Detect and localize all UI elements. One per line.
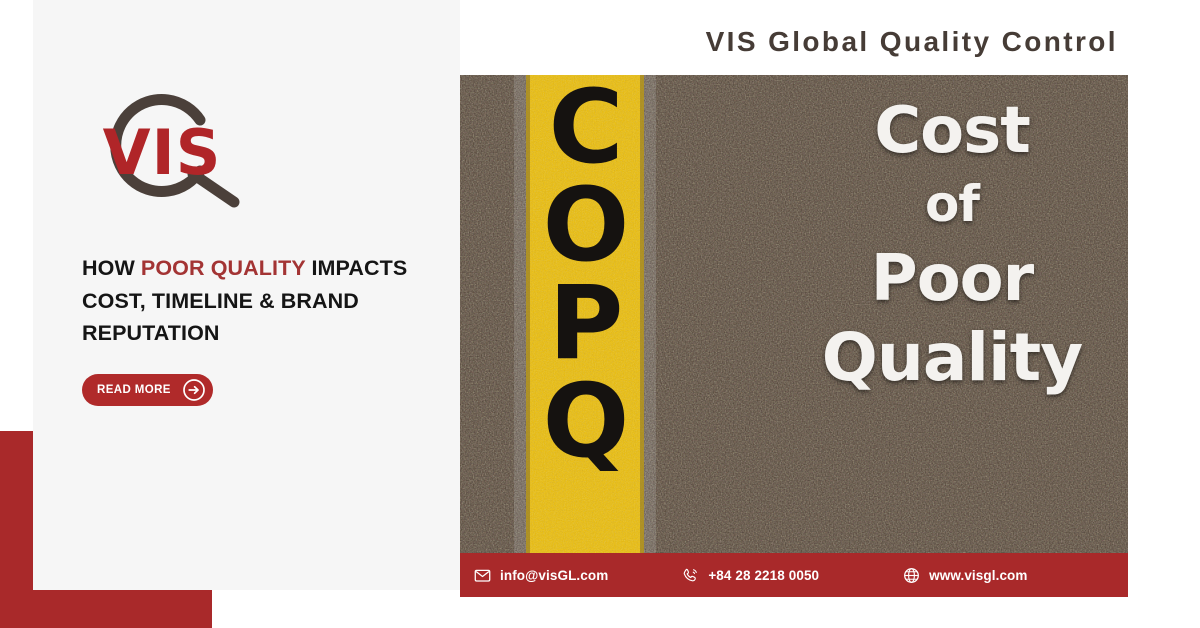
read-more-label: READ MORE [97,384,171,396]
envelope-icon [474,567,491,584]
contact-item-website[interactable]: www.visgl.com [903,567,1027,584]
phone-icon [682,567,699,584]
svg-text:VIS: VIS [103,116,222,189]
contact-bar: info@visGL.com +84 28 2218 0050 www.visg… [460,553,1128,597]
arrow-right-circle-icon [182,378,206,402]
magnifier-icon: VIS [82,78,242,213]
asphalt-road-image [460,75,1128,553]
globe-icon [903,567,920,584]
contact-label-phone: +84 28 2218 0050 [708,568,819,583]
contact-item-phone[interactable]: +84 28 2218 0050 [682,567,819,584]
page-title: HOW POOR QUALITY IMPACTS COST, TIMELINE … [82,252,427,350]
contact-item-email[interactable]: info@visGL.com [474,567,608,584]
contact-label-email: info@visGL.com [500,568,608,583]
header-title: VIS Global Quality Control [461,26,1118,58]
vis-logo[interactable]: VIS [82,78,242,213]
headline-part-1: HOW [82,256,141,280]
headline-accent: POOR QUALITY [141,256,305,280]
hero-photo: C O P Q Cost of Poor Quality [460,75,1128,553]
poster-root: VIS HOW POOR QUALITY IMPACTS COST, TIMEL… [0,0,1200,628]
read-more-button[interactable]: READ MORE [82,374,213,406]
contact-label-website: www.visgl.com [929,568,1027,583]
